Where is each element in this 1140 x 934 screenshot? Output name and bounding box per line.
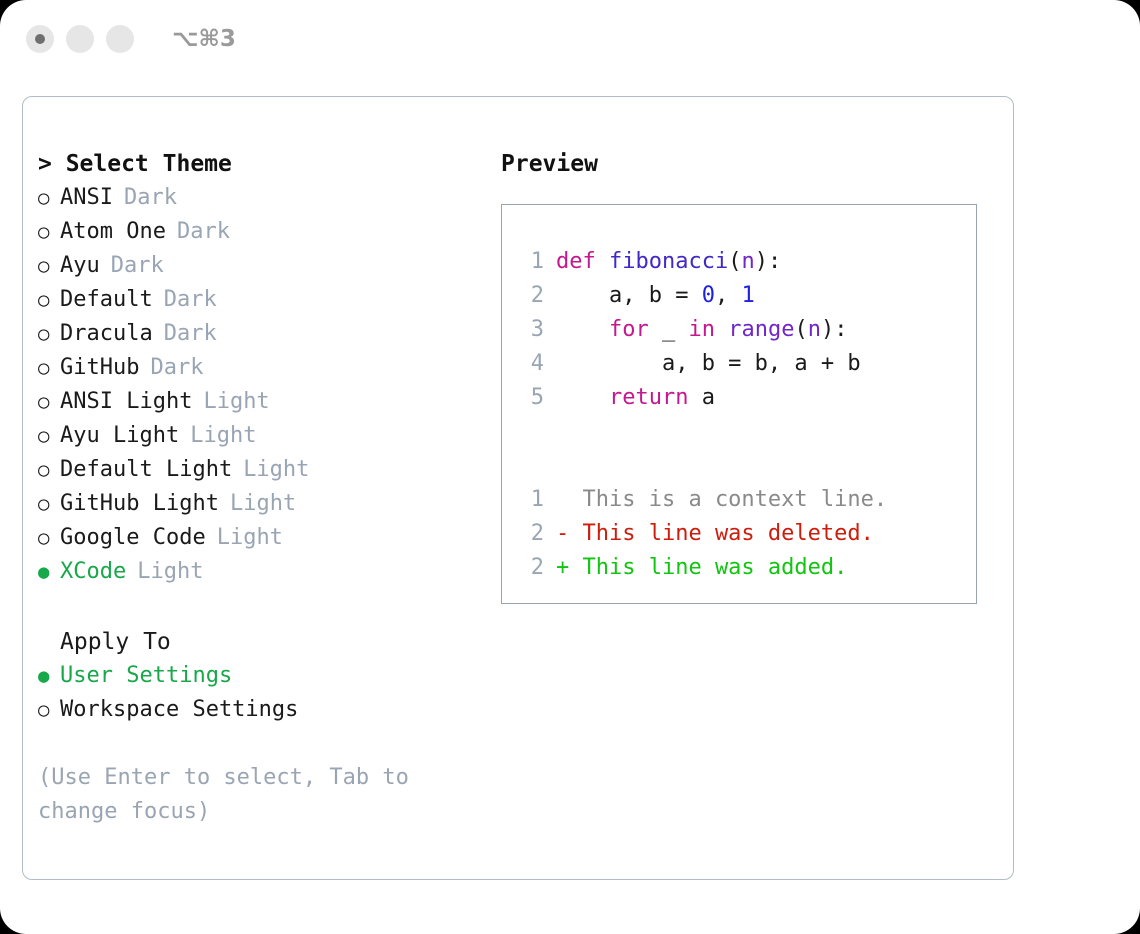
theme-variant-badge: Dark xyxy=(111,249,164,283)
code-token xyxy=(556,385,609,410)
code-token xyxy=(556,317,609,342)
code-token: for xyxy=(609,317,649,342)
code-line: 4 a, b = b, a + b xyxy=(516,347,976,381)
theme-variant-badge: Dark xyxy=(124,181,177,215)
diff-line-number: 2 xyxy=(516,517,544,551)
apply-to-header: Apply To xyxy=(60,625,498,659)
radio-unselected-icon: ○ xyxy=(38,249,60,283)
apply-to-option-row[interactable]: ●User Settings xyxy=(38,659,498,693)
code-token: n xyxy=(741,249,754,274)
radio-unselected-icon: ○ xyxy=(38,521,60,555)
code-line-number: 3 xyxy=(516,313,544,347)
preview-panel: Preview 1def fibonacci(n):2 a, b = 0, 13… xyxy=(501,147,1001,604)
code-token: return xyxy=(609,385,688,410)
code-token: fibonacci xyxy=(609,249,728,274)
code-line-text: a, b = b, a + b xyxy=(556,347,861,381)
code-line-text: def fibonacci(n): xyxy=(556,245,781,279)
preview-box: 1def fibonacci(n):2 a, b = 0, 13 for _ i… xyxy=(501,204,977,604)
code-token: 0 xyxy=(702,283,715,308)
window-dot-inner xyxy=(35,34,45,44)
radio-unselected-icon: ○ xyxy=(38,487,60,521)
radio-selected-icon: ● xyxy=(38,659,60,693)
theme-variant-badge: Light xyxy=(217,521,283,555)
theme-variant-badge: Light xyxy=(203,385,269,419)
code-token: ): xyxy=(821,317,848,342)
select-theme-header: > Select Theme xyxy=(38,147,498,181)
radio-unselected-icon: ○ xyxy=(38,215,60,249)
radio-selected-icon: ● xyxy=(38,555,60,589)
keyboard-hint-text: (Use Enter to select, Tab to change focu… xyxy=(38,761,448,829)
code-line-text: for _ in range(n): xyxy=(556,313,847,347)
theme-variant-badge: Dark xyxy=(177,215,230,249)
title-bar: ⌥⌘3 xyxy=(0,0,1140,78)
code-line-number: 1 xyxy=(516,245,544,279)
theme-variant-badge: Light xyxy=(137,555,203,589)
window-dot-third-icon[interactable] xyxy=(106,25,134,53)
preview-title: Preview xyxy=(501,147,1001,181)
theme-variant-badge: Dark xyxy=(150,351,203,385)
code-spacer-2 xyxy=(516,449,976,483)
diff-line-text: This is a context line. xyxy=(556,483,887,517)
radio-unselected-icon: ○ xyxy=(38,283,60,317)
apply-to-panel: Apply To ●User Settings○Workspace Settin… xyxy=(38,625,498,727)
theme-option-label: Dracula xyxy=(60,317,153,351)
radio-unselected-icon: ○ xyxy=(38,453,60,487)
diff-line-number: 1 xyxy=(516,483,544,517)
app-window: ⌥⌘3 > Select Theme ○ANSIDark○Atom OneDar… xyxy=(0,0,1140,934)
theme-option-label: ANSI xyxy=(60,181,113,215)
diff-sample: 1 This is a context line.2- This line wa… xyxy=(516,483,976,585)
code-line: 1def fibonacci(n): xyxy=(516,245,976,279)
code-token: in xyxy=(688,317,715,342)
code-token: ( xyxy=(794,317,807,342)
code-token: , xyxy=(715,283,742,308)
code-line-text: return a xyxy=(556,381,715,415)
code-token: a xyxy=(688,385,715,410)
theme-list-panel: > Select Theme ○ANSIDark○Atom OneDark○Ay… xyxy=(38,147,498,829)
theme-option-label: ANSI Light xyxy=(60,385,192,419)
code-line-number: 4 xyxy=(516,347,544,381)
theme-option-row[interactable]: ○ANSIDark xyxy=(38,181,498,215)
radio-unselected-icon: ○ xyxy=(38,181,60,215)
theme-option-row[interactable]: ○AyuDark xyxy=(38,249,498,283)
theme-picker-card: > Select Theme ○ANSIDark○Atom OneDark○Ay… xyxy=(22,96,1014,880)
code-line-text: a, b = 0, 1 xyxy=(556,279,755,313)
code-token: ): xyxy=(755,249,782,274)
diff-line-deleted: 2- This line was deleted. xyxy=(516,517,976,551)
radio-unselected-icon: ○ xyxy=(38,385,60,419)
code-line-number: 5 xyxy=(516,381,544,415)
code-token: n xyxy=(808,317,821,342)
code-line-number: 2 xyxy=(516,279,544,313)
theme-option-row[interactable]: ○Google CodeLight xyxy=(38,521,498,555)
theme-option-row[interactable]: ○DraculaDark xyxy=(38,317,498,351)
theme-variant-badge: Light xyxy=(243,453,309,487)
theme-option-label: GitHub xyxy=(60,351,139,385)
theme-option-label: Default Light xyxy=(60,453,232,487)
theme-option-row[interactable]: ○Ayu LightLight xyxy=(38,419,498,453)
apply-to-option-label: User Settings xyxy=(60,659,232,693)
theme-variant-badge: Light xyxy=(190,419,256,453)
code-token: ( xyxy=(728,249,741,274)
theme-option-row[interactable]: ○ANSI LightLight xyxy=(38,385,498,419)
theme-option-row[interactable]: ○GitHubDark xyxy=(38,351,498,385)
radio-unselected-icon: ○ xyxy=(38,317,60,351)
code-sample: 1def fibonacci(n):2 a, b = 0, 13 for _ i… xyxy=(516,245,976,415)
diff-line-number: 2 xyxy=(516,551,544,585)
theme-option-row[interactable]: ○DefaultDark xyxy=(38,283,498,317)
apply-to-option-row[interactable]: ○Workspace Settings xyxy=(38,693,498,727)
code-token: 1 xyxy=(741,283,754,308)
code-line: 3 for _ in range(n): xyxy=(516,313,976,347)
theme-option-row[interactable]: ●XCodeLight xyxy=(38,555,498,589)
theme-option-label: GitHub Light xyxy=(60,487,219,521)
theme-option-label: Default xyxy=(60,283,153,317)
code-token: a, b = b, a + b xyxy=(556,351,861,376)
apply-to-list[interactable]: ●User Settings○Workspace Settings xyxy=(38,659,498,727)
theme-variant-badge: Light xyxy=(230,487,296,521)
window-dot-active-icon[interactable] xyxy=(26,25,54,53)
code-token xyxy=(596,249,609,274)
code-line: 2 a, b = 0, 1 xyxy=(516,279,976,313)
code-spacer xyxy=(516,415,976,449)
window-dot-second-icon[interactable] xyxy=(66,25,94,53)
theme-variant-badge: Dark xyxy=(164,283,217,317)
theme-option-label: XCode xyxy=(60,555,126,589)
theme-option-label: Atom One xyxy=(60,215,166,249)
diff-line-added: 2+ This line was added. xyxy=(516,551,976,585)
code-token: range xyxy=(728,317,794,342)
apply-to-option-label: Workspace Settings xyxy=(60,693,298,727)
code-token: a, b = xyxy=(556,283,702,308)
theme-option-label: Google Code xyxy=(60,521,206,555)
theme-option-row[interactable]: ○Atom OneDark xyxy=(38,215,498,249)
code-line: 5 return a xyxy=(516,381,976,415)
code-token: _ xyxy=(649,317,689,342)
diff-line-text: - This line was deleted. xyxy=(556,517,874,551)
code-token: def xyxy=(556,249,596,274)
theme-option-row[interactable]: ○Default LightLight xyxy=(38,453,498,487)
theme-option-label: Ayu Light xyxy=(60,419,179,453)
diff-line-text: + This line was added. xyxy=(556,551,847,585)
theme-variant-badge: Dark xyxy=(164,317,217,351)
radio-unselected-icon: ○ xyxy=(38,419,60,453)
theme-option-row[interactable]: ○GitHub LightLight xyxy=(38,487,498,521)
radio-unselected-icon: ○ xyxy=(38,693,60,727)
keyboard-shortcut-label: ⌥⌘3 xyxy=(172,26,236,52)
theme-list[interactable]: ○ANSIDark○Atom OneDark○AyuDark○DefaultDa… xyxy=(38,181,498,589)
code-token xyxy=(715,317,728,342)
theme-option-label: Ayu xyxy=(60,249,100,283)
radio-unselected-icon: ○ xyxy=(38,351,60,385)
diff-line-context: 1 This is a context line. xyxy=(516,483,976,517)
